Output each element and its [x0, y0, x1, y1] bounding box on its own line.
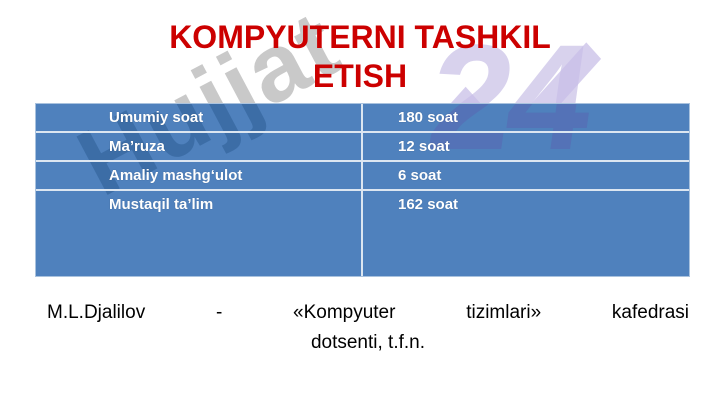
slide-title: KOMPYUTERNI TASHKIL ETISH	[60, 18, 660, 96]
hours-table: Hujjat 24 Umumiy soat 180 soat Ma’ruza 1…	[35, 103, 690, 277]
presenter-credit-line1: M.L.Djalilov - «Kompyuter tizimlari» kaf…	[47, 298, 689, 328]
table-cell-value: 180 soat	[361, 104, 689, 131]
table-cell-value: 12 soat	[361, 133, 689, 160]
presenter-credit: M.L.Djalilov - «Kompyuter tizimlari» kaf…	[47, 298, 689, 358]
table-cell-label: Mustaqil ta’lim	[36, 191, 361, 249]
table-cell-label: Umumiy soat	[36, 104, 361, 131]
slide-title-line1: KOMPYUTERNI TASHKIL	[60, 18, 660, 57]
table-cell-label: Amaliy mashg‘ulot	[36, 162, 361, 189]
table-cell-value: 6 soat	[361, 162, 689, 189]
slide-title-line2: ETISH	[60, 57, 660, 96]
presenter-credit-line2: dotsenti, t.f.n.	[47, 328, 689, 358]
slide-canvas: 24 Hujjat KOMPYUTERNI TASHKIL ETISH Hujj…	[0, 0, 720, 406]
table-column-divider	[361, 104, 363, 276]
table-cell-value: 162 soat	[361, 191, 689, 249]
table-cell-label: Ma’ruza	[36, 133, 361, 160]
